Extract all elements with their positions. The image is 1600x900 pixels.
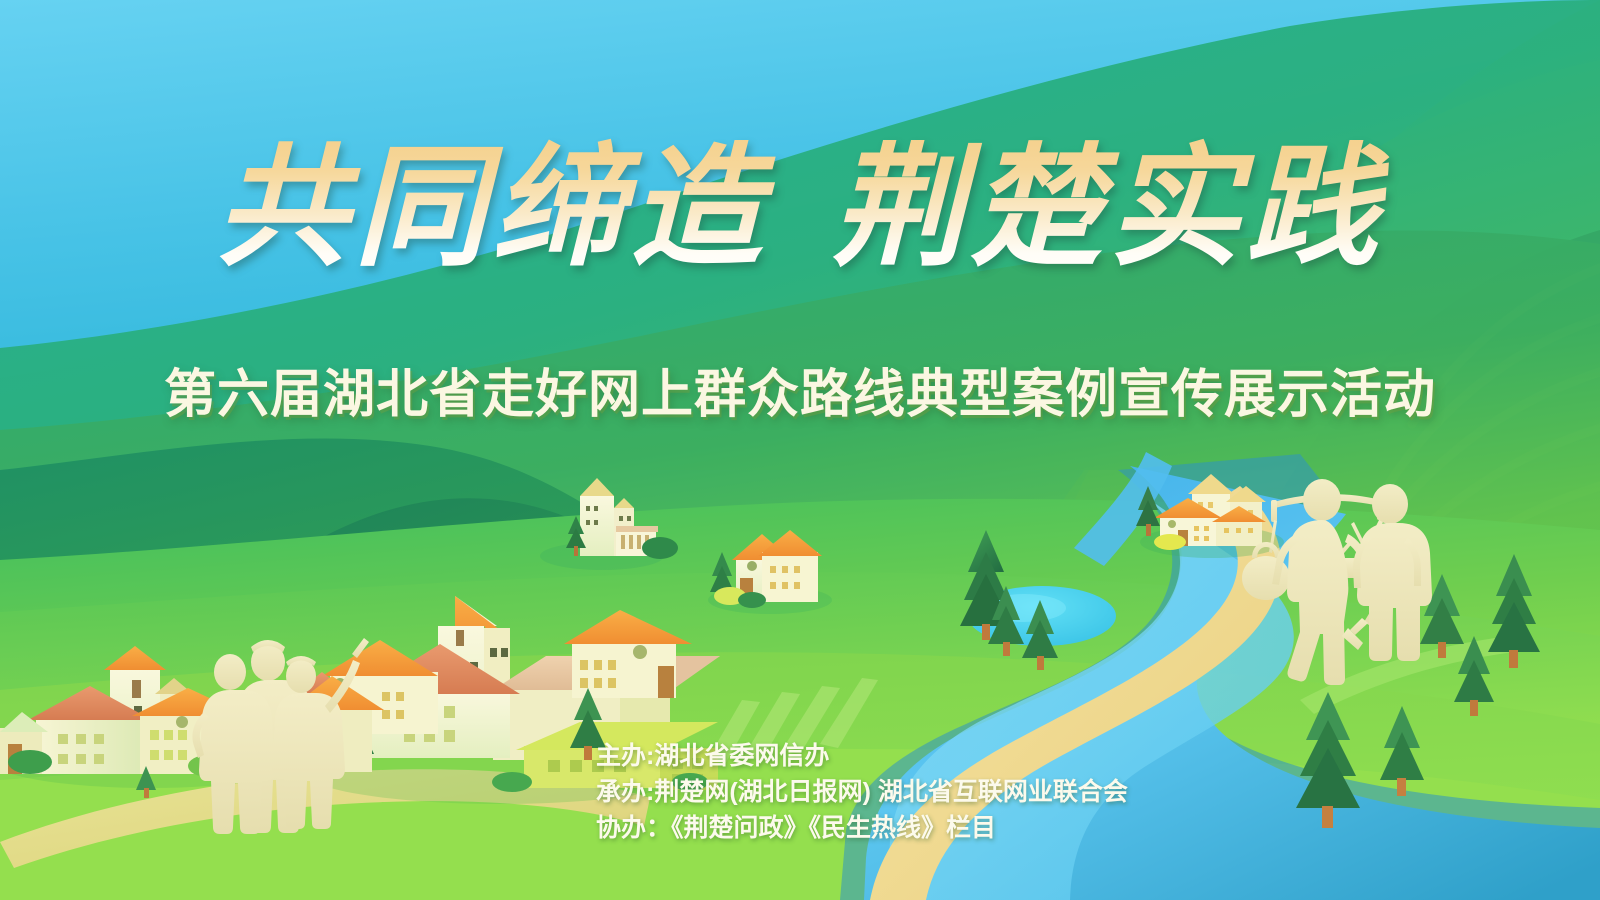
calligraphy-title: 共同缔造荆楚实践 [0, 128, 1600, 289]
calligraphy-part-2: 荆楚实践 [832, 135, 1384, 282]
credit-line-coorganizer: 协办：《荆楚问政》《民生热线》栏目 [596, 810, 1128, 846]
bush [1154, 534, 1186, 550]
bush [738, 592, 766, 608]
bush [492, 772, 532, 792]
credit-line-host: 承办:荆楚网(湖北日报网) 湖北省互联网业联合会 [596, 774, 1128, 810]
bush [642, 537, 678, 559]
credit-line-organizer: 主办:湖北省委网信办 [596, 738, 1128, 774]
credits-block: 主办:湖北省委网信办 承办:荆楚网(湖北日报网) 湖北省互联网业联合会 协办：《… [596, 738, 1128, 846]
poster-canvas: 共同缔造荆楚实践 第六届湖北省走好网上群众路线典型案例宣传展示活动 主办:湖北省… [0, 0, 1600, 900]
bush [8, 750, 52, 774]
calligraphy-part-1: 共同缔造 [216, 135, 768, 282]
event-subtitle: 第六届湖北省走好网上群众路线典型案例宣传展示活动 [0, 352, 1600, 427]
